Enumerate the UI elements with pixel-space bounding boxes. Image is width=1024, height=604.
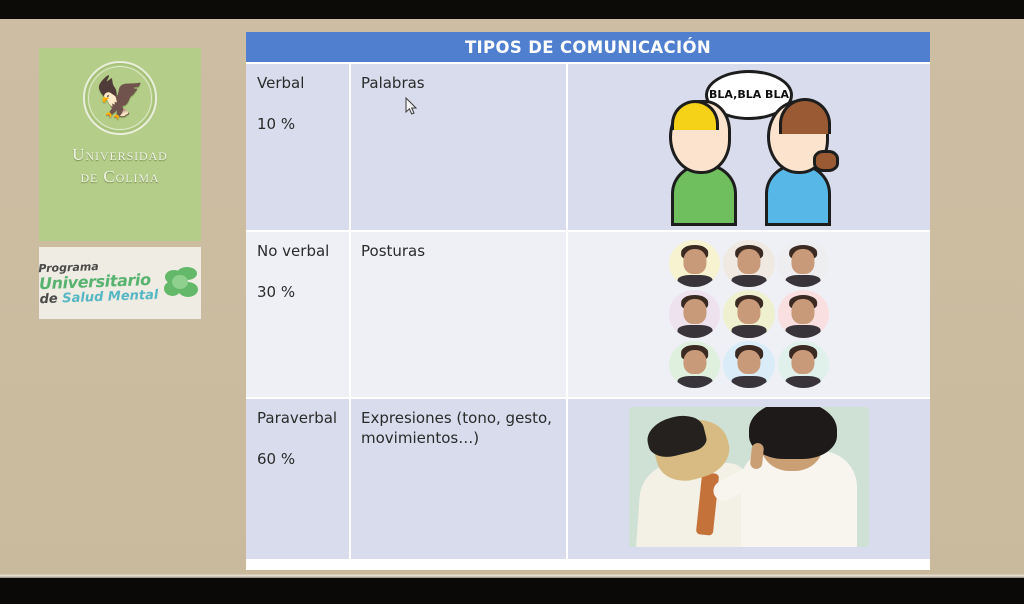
table-row: Paraverbal 60 % Expresiones (tono, gesto… <box>246 397 930 559</box>
table-row: Verbal 10 % Palabras BLA,BLA BLA <box>246 62 930 230</box>
letterbox-bottom <box>0 578 1024 604</box>
face-thumbnail <box>723 290 774 337</box>
face-thumbnail <box>723 341 774 388</box>
row-percent-label: 30 % <box>257 283 349 301</box>
row-percent-label: 60 % <box>257 450 349 468</box>
row-type-cell: No verbal 30 % <box>246 232 351 397</box>
row-description-label: Palabras <box>361 74 556 94</box>
university-name-line2: de Colima <box>72 166 168 188</box>
program-line-3-main: Salud Mental <box>62 287 159 306</box>
video-player-frame: 🦅 Universidad de Colima Programa Univers… <box>0 0 1024 604</box>
row-type-label: Paraverbal <box>257 409 349 428</box>
row-percent-label: 10 % <box>257 115 349 133</box>
table-row: No verbal 30 % Posturas <box>246 230 930 397</box>
row-type-label: No verbal <box>257 242 349 261</box>
row-description-cell: Palabras <box>351 64 568 230</box>
table-title: TIPOS DE COMUNICACIÓN <box>246 32 930 62</box>
row-type-cell: Verbal 10 % <box>246 64 351 230</box>
row-type-label: Verbal <box>257 74 349 93</box>
face-thumbnail <box>669 341 720 388</box>
row-description-cell: Posturas <box>351 232 568 397</box>
two-people-talking-illustration: BLA,BLA BLA <box>651 68 847 226</box>
row-description-label: Expresiones (tono, gesto, movimientos…) <box>361 409 556 449</box>
face-thumbnail <box>778 240 829 287</box>
university-name-line1: Universidad <box>72 144 168 166</box>
university-name: Universidad de Colima <box>72 144 168 188</box>
face-thumbnail <box>669 240 720 287</box>
university-logo: 🦅 Universidad de Colima <box>39 48 201 241</box>
nine-facial-expressions-grid <box>669 240 829 388</box>
presentation-slide: 🦅 Universidad de Colima Programa Univers… <box>0 19 1024 575</box>
face-thumbnail <box>778 341 829 388</box>
communication-types-table: TIPOS DE COMUNICACIÓN Verbal 10 % Palabr… <box>246 32 930 570</box>
program-line-3: de Salud Mental <box>39 288 158 307</box>
face-thumbnail <box>723 240 774 287</box>
brain-icon <box>163 266 201 300</box>
row-image-cell <box>568 232 930 397</box>
eagle-crest-icon: 🦅 <box>83 61 157 135</box>
row-type-cell: Paraverbal 60 % <box>246 399 351 559</box>
row-image-cell <box>568 399 930 559</box>
program-line-3-prefix: de <box>39 291 62 307</box>
woman-scolding-man-illustration <box>629 407 869 547</box>
row-description-cell: Expresiones (tono, gesto, movimientos…) <box>351 399 568 559</box>
row-image-cell: BLA,BLA BLA <box>568 64 930 230</box>
letterbox-top <box>0 0 1024 19</box>
face-thumbnail <box>669 290 720 337</box>
program-logo: Programa Universitario de Salud Mental <box>39 247 201 319</box>
program-logo-text: Programa Universitario de Salud Mental <box>38 259 158 308</box>
row-description-label: Posturas <box>361 242 556 262</box>
face-thumbnail <box>778 290 829 337</box>
